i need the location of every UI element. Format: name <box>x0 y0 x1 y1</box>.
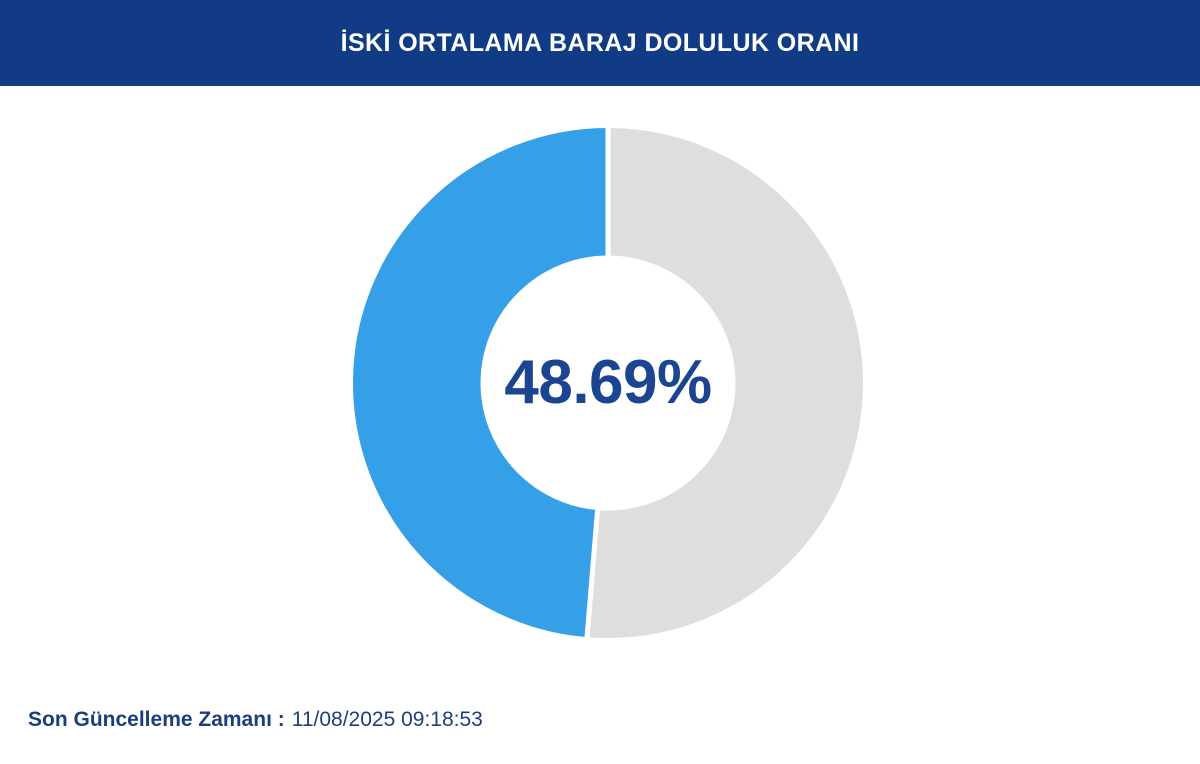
last-update-line: Son Güncelleme Zamanı : 11/08/2025 09:18… <box>28 708 483 732</box>
donut-chart: 48.69% <box>353 128 863 638</box>
last-update-value: 11/08/2025 09:18:53 <box>292 708 483 732</box>
footer: Son Güncelleme Zamanı : 11/08/2025 09:18… <box>0 676 1200 764</box>
last-update-label: Son Güncelleme Zamanı : <box>28 708 285 732</box>
page-title: İSKİ ORTALAMA BARAJ DOLULUK ORANI <box>341 29 860 58</box>
page-header: İSKİ ORTALAMA BARAJ DOLULUK ORANI <box>0 0 1200 86</box>
donut-chart-svg <box>353 128 863 638</box>
chart-area: 48.69% <box>0 86 1200 676</box>
